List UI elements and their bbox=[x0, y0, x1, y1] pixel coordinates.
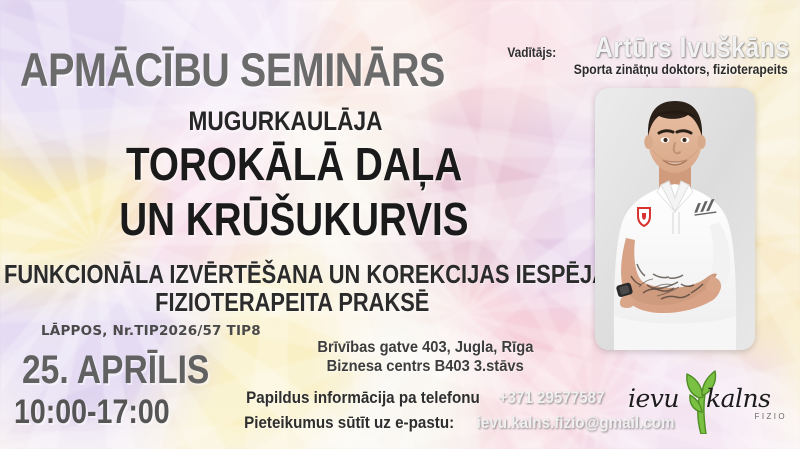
venue-block: Brīvības gatve 403, Jugla, Rīga Biznesa … bbox=[255, 338, 595, 376]
licence-number: LĀPPOS, Nr.TIP2026/57 TIP8 bbox=[41, 323, 261, 339]
venue-address-line-1: Brīvības gatve 403, Jugla, Rīga bbox=[255, 338, 595, 357]
speaker-label: Vadītājs: bbox=[508, 44, 557, 60]
speaker-credentials-text: Sporta zinātņu doktors, fizioterapeits bbox=[574, 62, 788, 77]
headline-primary-line-1: TOROKĀLĀ DAĻA bbox=[0, 141, 588, 187]
headline-subtitle-text: MUGURKAULĀJA bbox=[188, 108, 382, 135]
headline-primary-line-1-text: TOROKĀLĀ DAĻA bbox=[126, 141, 462, 187]
brand-logo-word-ievu: ievu bbox=[628, 384, 679, 413]
event-time: 10:00-17:00 bbox=[14, 395, 170, 429]
contact-phone-value[interactable]: +371 29577587 bbox=[499, 386, 605, 411]
brand-logo-tagline: FIZIO bbox=[755, 412, 787, 421]
speaker-name: Artūrs Ivuškāns bbox=[595, 32, 790, 65]
headline-description-line-2-text: FIZIOTERAPEITA PRAKSĒ bbox=[155, 289, 429, 315]
contact-phone-row: Papildus informācija pa telefonu +371 29… bbox=[235, 386, 610, 411]
contact-block: Papildus informācija pa telefonu +371 29… bbox=[235, 386, 610, 436]
speaker-portrait-photo bbox=[595, 88, 755, 350]
brand-logo-word-kalns: kalns bbox=[706, 384, 770, 413]
poster-canvas: APMĀCĪBU SEMINĀRS MUGURKAULĀJA TOROKĀLĀ … bbox=[0, 0, 800, 449]
headline-primary-line-2: UN KRŪŠUKURVIS bbox=[0, 196, 588, 242]
brand-logo[interactable]: ievu kalns FIZIO bbox=[628, 378, 793, 436]
contact-phone-label: Papildus informācija pa telefonu bbox=[246, 386, 480, 411]
headline-subtitle: MUGURKAULĀJA bbox=[0, 108, 570, 135]
event-date: 25. APRĪLIS bbox=[22, 350, 209, 390]
headline-description-line-1: FUNKCIONĀLA IZVĒRTĒŠANA UN KOREKCIJAS IE… bbox=[4, 261, 622, 287]
venue-address-line-1-text: Brīvības gatve 403, Jugla, Rīga bbox=[317, 338, 533, 357]
venue-address-line-2-text: Biznesa centrs B403 3.stāvs bbox=[326, 357, 523, 376]
headline-primary-line-2-text: UN KRŪŠUKURVIS bbox=[119, 196, 468, 242]
portrait-illustration bbox=[595, 88, 755, 350]
contact-email-label: Pieteikumus sūtīt uz e-pastu: bbox=[244, 411, 454, 436]
venue-address-line-2: Biznesa centrs B403 3.stāvs bbox=[255, 357, 595, 376]
speaker-header: Vadītājs: Artūrs Ivuškāns bbox=[490, 32, 790, 65]
contact-email-row: Pieteikumus sūtīt uz e-pastu: ievu.kalns… bbox=[235, 411, 610, 436]
speaker-credentials: Sporta zinātņu doktors, fizioterapeits bbox=[488, 62, 788, 77]
headline-description-line-2: FIZIOTERAPEITA PRAKSĒ bbox=[0, 289, 585, 315]
headline-eyebrow: APMĀCĪBU SEMINĀRS bbox=[20, 46, 445, 93]
